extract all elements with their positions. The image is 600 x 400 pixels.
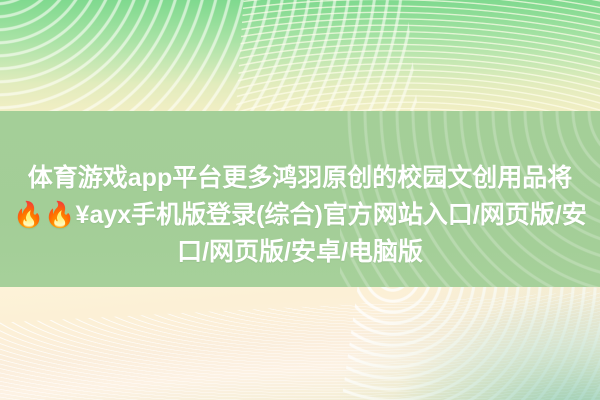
banner-headline: 体育游戏app平台更多鸿羽原创的校园文创用品将 🔥🔥¥ayx手机版登录(综合)官… bbox=[0, 160, 600, 271]
headline-line-2: 🔥🔥¥ayx手机版登录(综合)官方网站入口/网页版/安 bbox=[0, 197, 600, 234]
arc-pattern-top-right-icon bbox=[232, 0, 600, 111]
headline-line-3: 口/网页版/安卓/电脑版 bbox=[0, 234, 600, 271]
headline-line-1: 体育游戏app平台更多鸿羽原创的校园文创用品将 bbox=[0, 160, 600, 197]
background-band-bottom bbox=[0, 287, 600, 400]
arc-pattern-top-left-icon bbox=[0, 0, 430, 111]
wave-pattern-bottom-right-icon bbox=[341, 287, 600, 400]
background-band-top bbox=[0, 0, 600, 111]
wave-pattern-bottom-icon bbox=[0, 290, 600, 400]
promotional-banner: 体育游戏app平台更多鸿羽原创的校园文创用品将 🔥🔥¥ayx手机版登录(综合)官… bbox=[0, 0, 600, 400]
